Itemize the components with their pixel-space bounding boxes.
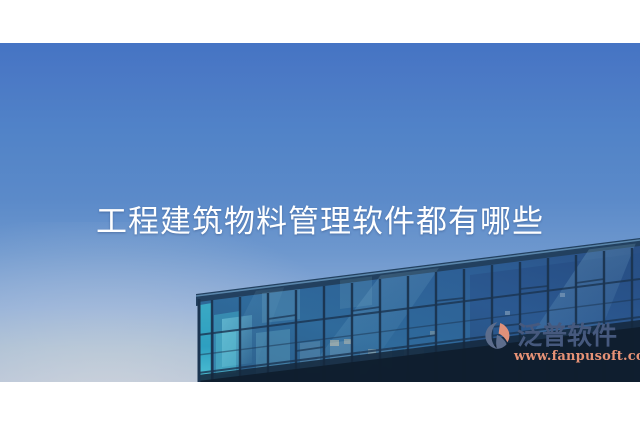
article-header-banner: 工程建筑物料管理软件都有哪些 泛普软件 www.fanpusoft.com [0,0,640,427]
banner-photo: 工程建筑物料管理软件都有哪些 泛普软件 www.fanpusoft.com [0,43,640,382]
fanpu-logo-mark-icon [484,321,514,350]
logo-brand-text: 泛普软件 [517,321,617,350]
brand-logo[interactable]: 泛普软件 www.fanpusoft.com [484,320,632,368]
page-title: 工程建筑物料管理软件都有哪些 [0,199,640,245]
logo-row: 泛普软件 [484,320,617,350]
logo-website-url[interactable]: www.fanpusoft.com [514,349,640,364]
